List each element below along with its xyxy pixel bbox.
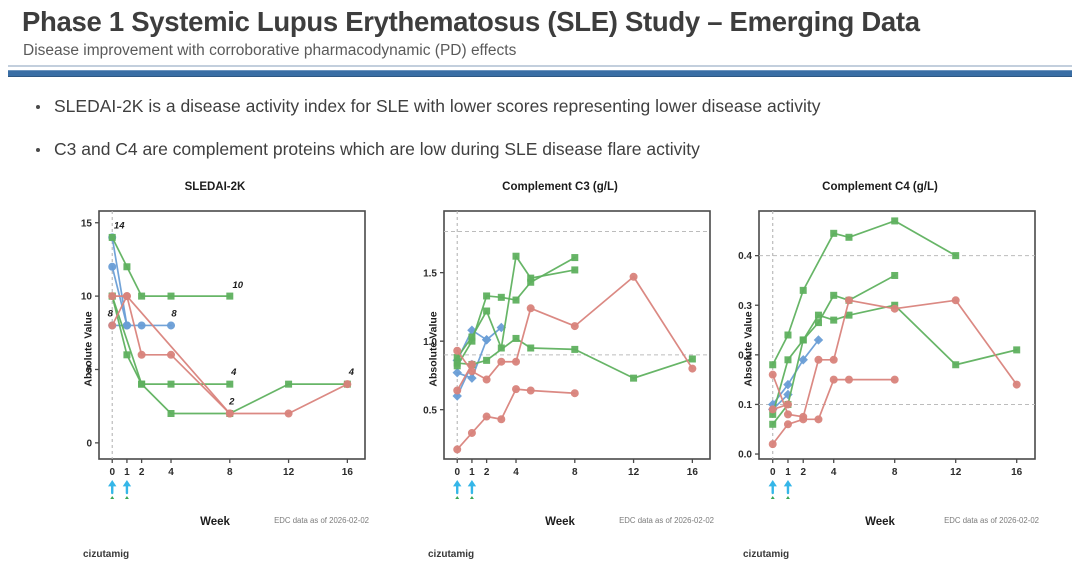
- plot-area-sledai: Absolute Value 051015012481216141088442: [55, 199, 375, 499]
- plot-area-c4: Absolute Value 0.00.10.20.30.4012481216: [715, 199, 1045, 499]
- svg-text:4: 4: [513, 467, 519, 478]
- svg-text:0.0: 0.0: [738, 450, 752, 461]
- dose-arrow-icon: [453, 480, 461, 493]
- page-title: Phase 1 Systemic Lupus Erythematosus (SL…: [22, 6, 920, 38]
- svg-text:4: 4: [348, 367, 355, 378]
- edc-note: EDC data as of 2026-02-02: [944, 516, 1039, 525]
- chart-panel-sledai: SLEDAI-2K Absolute Value 051015012481216…: [55, 181, 375, 573]
- chart-title: SLEDAI-2K: [55, 181, 375, 193]
- chart-svg-sledai: 051015012481216141088442: [55, 199, 375, 499]
- dose-arrow-icon: [468, 480, 476, 493]
- drug-label: cizutamig: [743, 549, 789, 560]
- dose-arrow-icon: [108, 480, 116, 493]
- svg-text:12: 12: [950, 467, 962, 478]
- svg-text:0: 0: [770, 467, 776, 478]
- dose-arrow-icon: [784, 496, 792, 499]
- svg-text:1.0: 1.0: [423, 337, 437, 348]
- bullet-dot-icon: [36, 105, 40, 109]
- svg-text:8: 8: [108, 308, 114, 319]
- svg-text:2: 2: [484, 467, 490, 478]
- dose-arrow-icon: [123, 480, 131, 493]
- drug-label: cizutamig: [428, 549, 474, 560]
- dose-arrow-icon: [453, 496, 461, 499]
- svg-text:12: 12: [628, 467, 640, 478]
- header-divider-bar: [8, 70, 1072, 77]
- svg-text:8: 8: [892, 467, 898, 478]
- dose-arrow-icon: [769, 496, 777, 499]
- svg-text:2: 2: [800, 467, 806, 478]
- dose-arrow-icon: [468, 496, 476, 499]
- svg-text:0.3: 0.3: [738, 301, 752, 312]
- bullet-text: C3 and C4 are complement proteins which …: [54, 139, 700, 159]
- svg-text:8: 8: [171, 308, 177, 319]
- chart-panel-c3: Complement C3 (g/L) Absolute Value 0.51.…: [400, 181, 720, 573]
- list-item: SLEDAI-2K is a disease activity index fo…: [30, 96, 1060, 117]
- bullet-list: SLEDAI-2K is a disease activity index fo…: [30, 96, 1060, 160]
- svg-text:1: 1: [785, 467, 791, 478]
- chart-svg-c3: 0.51.01.5012481216: [400, 199, 720, 499]
- svg-text:0: 0: [454, 467, 460, 478]
- svg-text:0.4: 0.4: [738, 251, 752, 262]
- chart-svg-c4: 0.00.10.20.30.4012481216: [715, 199, 1045, 499]
- svg-text:0: 0: [109, 467, 115, 478]
- list-item: C3 and C4 are complement proteins which …: [30, 139, 1060, 160]
- dose-arrow-icon: [108, 496, 116, 499]
- svg-text:12: 12: [283, 467, 295, 478]
- chart-title: Complement C4 (g/L): [715, 181, 1045, 193]
- svg-text:16: 16: [342, 467, 354, 478]
- svg-text:16: 16: [687, 467, 699, 478]
- edc-note: EDC data as of 2026-02-02: [274, 516, 369, 525]
- header-divider-thin: [8, 65, 1072, 67]
- svg-text:0.5: 0.5: [423, 405, 437, 416]
- svg-text:4: 4: [168, 467, 174, 478]
- chart-title: Complement C3 (g/L): [400, 181, 720, 193]
- svg-text:5: 5: [86, 365, 92, 376]
- dose-arrow-icon: [769, 480, 777, 493]
- svg-text:16: 16: [1011, 467, 1023, 478]
- bullet-text: SLEDAI-2K is a disease activity index fo…: [54, 96, 820, 116]
- svg-text:14: 14: [114, 220, 125, 231]
- svg-text:0: 0: [86, 438, 92, 449]
- edc-note: EDC data as of 2026-02-02: [619, 516, 714, 525]
- bullet-dot-icon: [36, 148, 40, 152]
- chart-panel-c4: Complement C4 (g/L) Absolute Value 0.00.…: [715, 181, 1045, 573]
- svg-text:1: 1: [124, 467, 130, 478]
- svg-text:2: 2: [228, 397, 235, 408]
- svg-text:15: 15: [81, 218, 93, 229]
- svg-text:10: 10: [233, 280, 244, 291]
- dose-arrow-icon: [123, 496, 131, 499]
- svg-text:1: 1: [469, 467, 475, 478]
- svg-text:0.1: 0.1: [738, 400, 752, 411]
- svg-text:10: 10: [81, 292, 93, 303]
- plot-area-c3: Absolute Value 0.51.01.5012481216: [400, 199, 720, 499]
- svg-text:1.5: 1.5: [423, 268, 437, 279]
- svg-text:0.2: 0.2: [738, 350, 752, 361]
- svg-text:8: 8: [227, 467, 233, 478]
- slide-root: Phase 1 Systemic Lupus Erythematosus (SL…: [0, 0, 1080, 573]
- dose-arrow-icon: [784, 480, 792, 493]
- page-subtitle: Disease improvement with corroborative p…: [23, 42, 516, 60]
- svg-text:4: 4: [831, 467, 837, 478]
- svg-text:2: 2: [139, 467, 145, 478]
- drug-label: cizutamig: [83, 549, 129, 560]
- svg-text:4: 4: [230, 367, 237, 378]
- svg-text:8: 8: [572, 467, 578, 478]
